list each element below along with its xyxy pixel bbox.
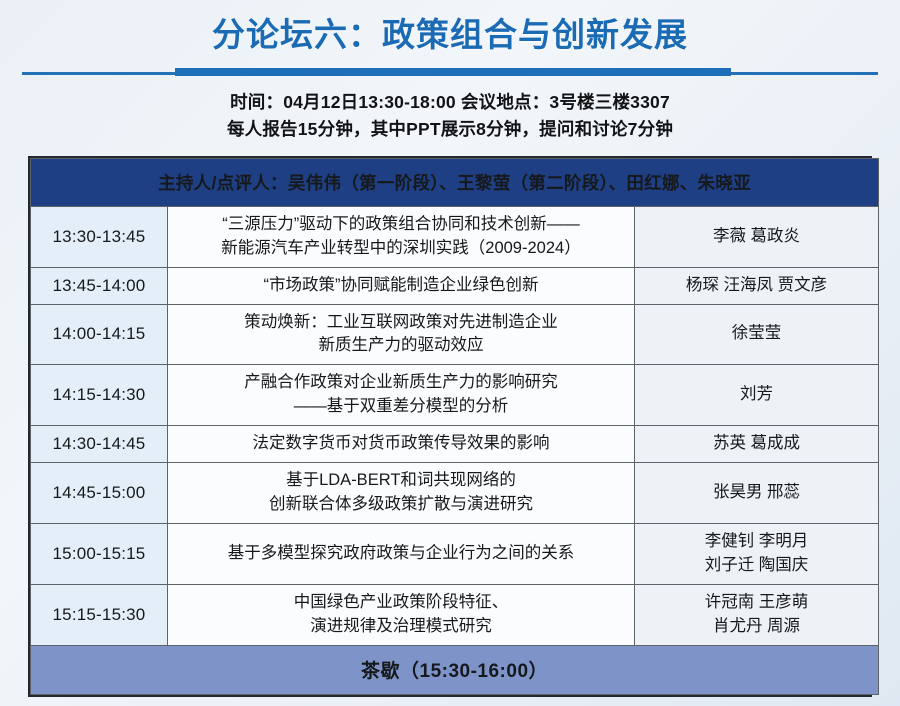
session-topic-line: 创新联合体多级政策扩散与演进研究	[178, 493, 624, 517]
session-time: 14:45-15:00	[31, 463, 168, 524]
session-topic-line: 基于LDA-BERT和词共现网络的	[178, 469, 624, 493]
session-topic: 基于多模型探究政府政策与企业行为之间的关系	[168, 523, 635, 584]
session-authors: 许冠南 王彦萌肖尤丹 周源	[635, 584, 879, 645]
session-author-line: 李健钊 李明月	[641, 530, 872, 554]
subtitle-format-rules: 每人报告15分钟，其中PPT展示8分钟，提问和讨论7分钟	[0, 116, 900, 142]
page-title: 分论坛六：政策组合与创新发展	[0, 14, 900, 55]
schedule-table: 主持人/点评人：吴伟伟（第一阶段）、王黎萤（第二阶段）、田红娜、朱晓亚 13:3…	[30, 158, 879, 695]
session-time: 14:00-14:15	[31, 304, 168, 365]
session-time: 13:45-14:00	[31, 267, 168, 304]
table-row: 15:00-15:15基于多模型探究政府政策与企业行为之间的关系李健钊 李明月刘…	[31, 523, 879, 584]
session-author-line: 刘芳	[641, 383, 872, 407]
session-author-line: 徐莹莹	[641, 322, 872, 346]
session-author-line: 许冠南 王彦萌	[641, 591, 872, 615]
session-topic-line: ——基于双重差分模型的分析	[178, 395, 624, 419]
moderator-header-cell: 主持人/点评人：吴伟伟（第一阶段）、王黎萤（第二阶段）、田红娜、朱晓亚	[31, 158, 879, 206]
session-topic-line: 新质生产力的驱动效应	[178, 334, 624, 358]
table-row: 15:15-15:30中国绿色产业政策阶段特征、演进规律及治理模式研究许冠南 王…	[31, 584, 879, 645]
session-author-line: 李薇 葛政炎	[641, 225, 872, 249]
session-author-line: 杨琛 汪海凤 贾文彦	[641, 274, 872, 298]
schedule-table-body: 主持人/点评人：吴伟伟（第一阶段）、王黎萤（第二阶段）、田红娜、朱晓亚 13:3…	[31, 158, 879, 694]
session-topic-line: 产融合作政策对企业新质生产力的影响研究	[178, 371, 624, 395]
session-authors: 刘芳	[635, 365, 879, 426]
session-topic: 基于LDA-BERT和词共现网络的创新联合体多级政策扩散与演进研究	[168, 463, 635, 524]
session-topic-line: 中国绿色产业政策阶段特征、	[178, 591, 624, 615]
table-row: 13:45-14:00“市场政策”协同赋能制造企业绿色创新杨琛 汪海凤 贾文彦	[31, 267, 879, 304]
session-time: 13:30-13:45	[31, 206, 168, 267]
session-time: 15:15-15:30	[31, 584, 168, 645]
session-time: 14:30-14:45	[31, 426, 168, 463]
table-row: 13:30-13:45“三源压力”驱动下的政策组合协同和技术创新——新能源汽车产…	[31, 206, 879, 267]
session-topic: 中国绿色产业政策阶段特征、演进规律及治理模式研究	[168, 584, 635, 645]
session-topic-line: 演进规律及治理模式研究	[178, 615, 624, 639]
session-time: 15:00-15:15	[31, 523, 168, 584]
session-topic: “三源压力”驱动下的政策组合协同和技术创新——新能源汽车产业转型中的深圳实践（2…	[168, 206, 635, 267]
session-topic-line: “市场政策”协同赋能制造企业绿色创新	[178, 274, 624, 298]
session-topic-line: 策动焕新：工业互联网政策对先进制造企业	[178, 311, 624, 335]
session-topic: “市场政策”协同赋能制造企业绿色创新	[168, 267, 635, 304]
session-topic-line: 新能源汽车产业转型中的深圳实践（2009-2024）	[178, 237, 624, 261]
title-block: 分论坛六：政策组合与创新发展	[0, 0, 900, 55]
subtitle-block: 时间：04月12日13:30-18:00 会议地点：3号楼三楼3307 每人报告…	[0, 89, 900, 142]
divider-thick-bar	[175, 68, 731, 76]
session-authors: 张昊男 邢蕊	[635, 463, 879, 524]
schedule-table-container: 主持人/点评人：吴伟伟（第一阶段）、王黎萤（第二阶段）、田红娜、朱晓亚 13:3…	[28, 156, 872, 697]
subtitle-time-location: 时间：04月12日13:30-18:00 会议地点：3号楼三楼3307	[0, 89, 900, 115]
title-divider	[0, 67, 900, 77]
table-row: 14:45-15:00基于LDA-BERT和词共现网络的创新联合体多级政策扩散与…	[31, 463, 879, 524]
session-topic-line: “三源压力”驱动下的政策组合协同和技术创新——	[178, 213, 624, 237]
session-topic: 产融合作政策对企业新质生产力的影响研究——基于双重差分模型的分析	[168, 365, 635, 426]
session-topic-line: 基于多模型探究政府政策与企业行为之间的关系	[178, 542, 624, 566]
session-authors: 李健钊 李明月刘子迁 陶国庆	[635, 523, 879, 584]
session-authors: 李薇 葛政炎	[635, 206, 879, 267]
table-row: 14:15-14:30产融合作政策对企业新质生产力的影响研究——基于双重差分模型…	[31, 365, 879, 426]
session-author-line: 苏英 葛成成	[641, 432, 872, 456]
session-topic-line: 法定数字货币对货币政策传导效果的影响	[178, 432, 624, 456]
table-row: 14:30-14:45法定数字货币对货币政策传导效果的影响苏英 葛成成	[31, 426, 879, 463]
table-row: 14:00-14:15策动焕新：工业互联网政策对先进制造企业新质生产力的驱动效应…	[31, 304, 879, 365]
session-authors: 杨琛 汪海凤 贾文彦	[635, 267, 879, 304]
session-author-line: 肖尤丹 周源	[641, 615, 872, 639]
session-authors: 苏英 葛成成	[635, 426, 879, 463]
session-topic: 法定数字货币对货币政策传导效果的影响	[168, 426, 635, 463]
tea-break-row: 茶歇（15:30-16:00）	[31, 645, 879, 694]
moderator-header-row: 主持人/点评人：吴伟伟（第一阶段）、王黎萤（第二阶段）、田红娜、朱晓亚	[31, 158, 879, 206]
session-topic: 策动焕新：工业互联网政策对先进制造企业新质生产力的驱动效应	[168, 304, 635, 365]
session-authors: 徐莹莹	[635, 304, 879, 365]
session-author-line: 刘子迁 陶国庆	[641, 554, 872, 578]
tea-break-cell: 茶歇（15:30-16:00）	[31, 645, 879, 694]
session-author-line: 张昊男 邢蕊	[641, 481, 872, 505]
session-time: 14:15-14:30	[31, 365, 168, 426]
